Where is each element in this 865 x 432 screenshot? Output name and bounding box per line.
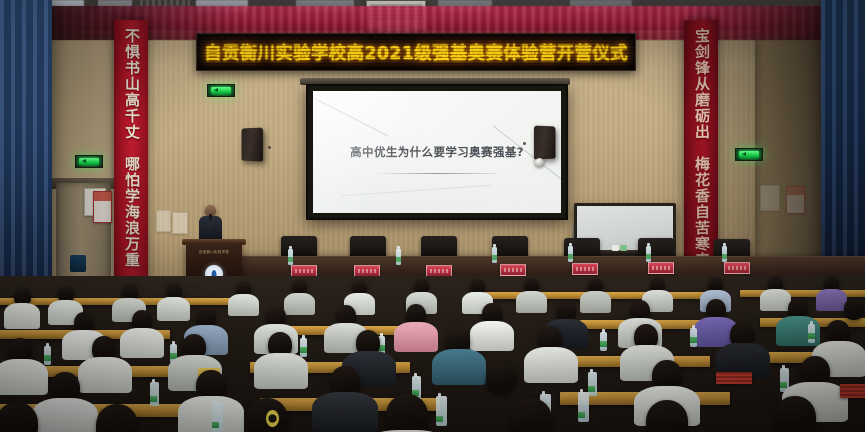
audience-torso <box>157 297 190 321</box>
exit-sign-right <box>735 148 763 161</box>
slide-title-text: 高中优生为什么要学习奥赛强基? <box>350 144 524 160</box>
audience-torso <box>394 322 438 352</box>
audience-torso <box>32 398 98 432</box>
audience-head <box>844 298 864 320</box>
whiteboard-marker-2 <box>620 245 627 251</box>
water-bottle <box>396 249 401 265</box>
audience-head <box>646 400 688 432</box>
wall-fixture-dot <box>523 142 526 145</box>
projection-screen: 高中优生为什么要学习奥赛强基? <box>306 84 568 220</box>
water-bottle <box>588 372 597 396</box>
audience-torso <box>470 321 514 351</box>
audience-torso <box>816 289 847 311</box>
audience-torso <box>760 289 791 311</box>
name-card <box>572 263 598 275</box>
water-bottle <box>150 382 159 406</box>
wall-fixture-dot <box>268 146 271 149</box>
curtain-left <box>0 0 52 300</box>
security-camera-icon <box>535 158 544 167</box>
microphone-icon <box>209 214 212 221</box>
audience-torso <box>254 353 308 389</box>
wall-speaker-left <box>242 128 264 162</box>
curtain-right <box>821 0 865 300</box>
presentation-slide: 高中优生为什么要学习奥赛强基? <box>313 91 561 213</box>
audience-torso <box>432 349 486 385</box>
wall-speaker-right <box>534 126 556 160</box>
banner-shading <box>684 19 718 276</box>
audience-torso <box>0 359 48 395</box>
podium-front-text: 自贡衡川实验学校 <box>186 249 242 254</box>
led-banner: 自贡衡川实验学校高2021级强基奥赛体验营开营仪式 <box>196 33 636 71</box>
led-banner-text: 自贡衡川实验学校高2021级强基奥赛体验营开营仪式 <box>204 40 628 65</box>
audience-head <box>510 398 552 432</box>
notice-board-4 <box>156 210 171 232</box>
water-bottle <box>808 324 815 343</box>
audience-head <box>386 394 428 432</box>
photo-scene: 自贡衡川实验学校高2021级强基奥赛体验营开营仪式 不惧书山高千丈 哪怕学海浪万… <box>0 0 865 432</box>
hair-clip-icon <box>266 410 279 427</box>
audience-torso <box>516 291 547 313</box>
book-stack <box>840 384 865 398</box>
water-bottle <box>568 246 573 262</box>
audience-torso <box>4 303 40 329</box>
exit-icon <box>79 158 99 165</box>
water-bottle <box>436 396 447 426</box>
audience-torso <box>580 291 611 313</box>
audience-torso <box>312 392 378 432</box>
water-bottle <box>646 246 651 262</box>
book-stack <box>716 372 752 384</box>
water-bottle <box>690 328 697 347</box>
exit-sign-center <box>207 84 235 97</box>
water-bottle <box>300 338 307 357</box>
audience-torso <box>120 328 164 358</box>
screen-crease-1 <box>313 95 388 137</box>
exit-icon <box>739 151 759 158</box>
notice-board-3 <box>172 212 188 234</box>
wall-banner-left: 不惧书山高千丈 哪怕学海浪万重 <box>114 20 148 281</box>
water-bottle <box>44 346 51 365</box>
water-bottle <box>600 332 607 351</box>
audience-torso <box>524 347 578 383</box>
whiteboard-marker-1 <box>612 245 619 251</box>
audience-torso <box>284 293 315 315</box>
water-bottle <box>212 402 223 432</box>
name-card <box>648 262 674 274</box>
water-bottle <box>722 246 727 262</box>
audience-torso <box>228 294 259 316</box>
banner-shading <box>114 20 148 281</box>
wall-banner-right: 宝剑锋从磨砺出 梅花香自苦寒来 <box>684 19 718 276</box>
exit-icon <box>211 87 231 94</box>
water-bottle <box>492 247 497 263</box>
slide-underline <box>376 173 498 174</box>
name-card <box>724 262 750 274</box>
audience-area <box>0 276 865 432</box>
audience-torso <box>78 357 132 393</box>
exit-sign-left <box>75 155 103 168</box>
water-bottle <box>578 392 589 422</box>
audience-head <box>774 396 816 432</box>
water-bottle <box>288 249 293 265</box>
audience-torso <box>178 396 244 432</box>
name-card <box>500 264 526 276</box>
screen-crease-3 <box>341 185 491 196</box>
